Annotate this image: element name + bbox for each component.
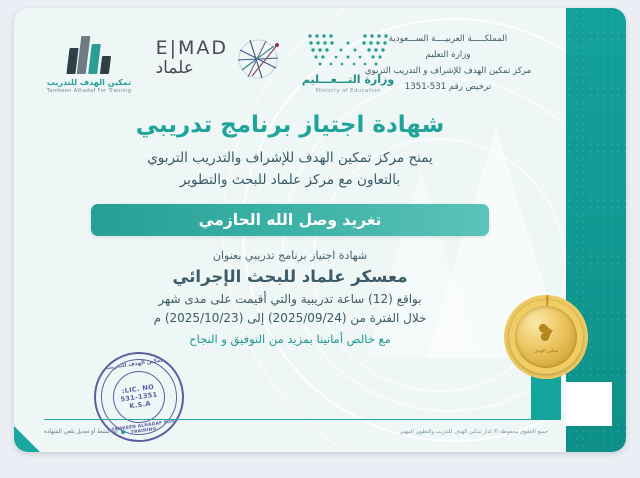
stamp-inner-text: LIC. NO: 531-1351 K.S.A	[110, 368, 169, 427]
footer-divider	[44, 419, 534, 420]
tamkeen-logo-english: Tamkeen Alhadaf For Training	[34, 88, 144, 94]
wish-line: مع خالص أمانينا بمزيد من التوفيق و النجا…	[14, 332, 566, 346]
emad-wordmark: E|MAD علماد	[156, 39, 228, 77]
emad-logo-english: E|MAD	[156, 39, 228, 58]
program-title: معسكر علماد للبحث الإجرائي	[14, 267, 566, 286]
gold-medal-seal: ❥ تمكين الهدف	[500, 300, 592, 420]
granted-by-line-2: بالتعاون مع مركز علماد للبحث والتطوير	[14, 170, 566, 192]
footer-warning-note: أي كشط أو تعديل يلغي الشهادة	[44, 429, 125, 435]
stamp-country-code: K.S.A	[129, 400, 151, 411]
footer-warning-text: أي كشط أو تعديل يلغي الشهادة	[44, 429, 118, 435]
org-country: المملكـــــة العربيــــة الســـعودية	[348, 32, 548, 48]
org-ministry: وزارة التعليم	[348, 48, 548, 64]
org-license: ترخيص رقم 531-1351	[348, 80, 548, 96]
footer-copyright: جميع الحقوق محفوظة © لدار تمكين الهدف لل…	[400, 429, 548, 435]
emad-logo-arabic: علماد	[156, 60, 228, 77]
hours-line: بواقع (12) ساعة تدريبية والتي أقيمت على …	[14, 292, 566, 306]
period-line: خلال الفترة من (2025/09/24) إلى (2025/10…	[14, 311, 566, 325]
recipient-name: تغريد وصل الله الحازمي	[199, 211, 382, 229]
tamkeen-logo-arabic: تمكين الهدف للتدريب	[34, 78, 144, 87]
org-center: مركز تمكين الهدف للإشراف و التدريب الترب…	[348, 64, 548, 80]
emad-mark-icon	[232, 32, 284, 84]
program-label: شهادة اجتياز برنامج تدريبي بعنوان	[14, 249, 566, 262]
certificate-card: تمكين الهدف للتدريب Tamkeen Alhadaf For …	[14, 8, 626, 452]
header-logos: تمكين الهدف للتدريب Tamkeen Alhadaf For …	[14, 24, 626, 108]
medal-label: تمكين الهدف	[534, 349, 559, 354]
medal-body: ❥ تمكين الهدف	[509, 300, 583, 374]
granted-by-text: يمنح مركز تمكين الهدف للإشراف والتدريب ا…	[14, 148, 566, 192]
tamkeen-mark-icon	[34, 28, 144, 74]
organization-info: المملكـــــة العربيــــة الســـعودية وزا…	[348, 32, 548, 96]
certificate-body: شهادة اجتياز برنامج تدريبي يمنح مركز تمك…	[14, 112, 566, 346]
medal-face: ❥ تمكين الهدف	[515, 306, 577, 368]
emad-logo: E|MAD علماد	[154, 32, 284, 84]
recipient-name-banner: تغريد وصل الله الحازمي	[91, 204, 489, 236]
emad-lines-svg	[232, 32, 284, 84]
certificate-page: تمكين الهدف للتدريب Tamkeen Alhadaf For …	[0, 0, 640, 478]
tamkeen-alhadaf-logo: تمكين الهدف للتدريب Tamkeen Alhadaf For …	[34, 28, 144, 94]
bullet-icon	[121, 430, 125, 434]
granted-by-line-1: يمنح مركز تمكين الهدف للإشراف والتدريب ا…	[14, 148, 566, 170]
corner-triangle-accent	[14, 426, 40, 452]
certificate-title: شهادة اجتياز برنامج تدريبي	[14, 112, 566, 138]
medal-emblem-icon: ❥	[534, 319, 559, 347]
